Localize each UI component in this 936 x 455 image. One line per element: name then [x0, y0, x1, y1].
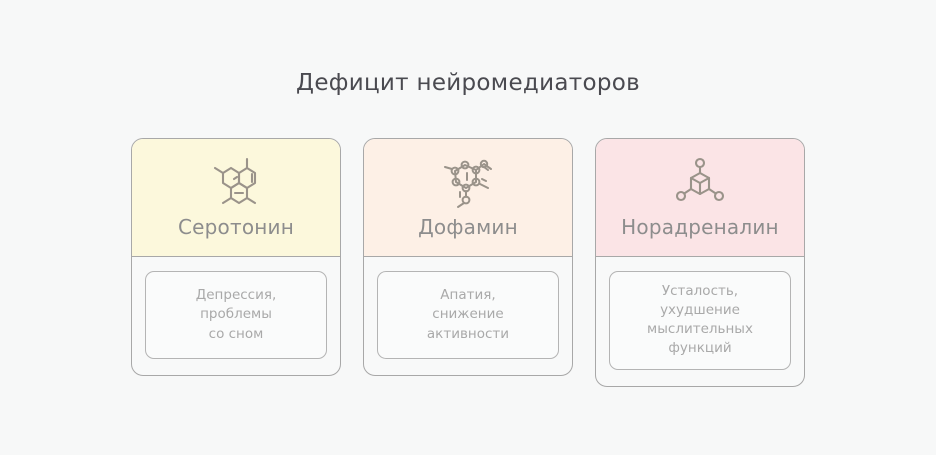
noradrenaline-molecule-icon [669, 153, 731, 215]
page-title: Дефицит нейромедиаторов [0, 70, 936, 96]
card-title-noradrenaline: Норадреналин [621, 217, 779, 237]
description-box-noradrenaline: Усталость, ухудшение мыслительных функци… [609, 271, 791, 370]
description-box-dopamine: Апатия, снижение активности [377, 271, 559, 359]
card-dopamine[interactable]: Дофамин Апатия, снижение активности [363, 138, 573, 376]
description-text-dopamine: Апатия, снижение активности [427, 286, 509, 343]
card-title-dopamine: Дофамин [418, 217, 518, 237]
card-header-noradrenaline: Норадреналин [596, 139, 804, 257]
card-serotonin[interactable]: Серотонин Депрессия, проблемы со сном [131, 138, 341, 376]
card-body-serotonin: Депрессия, проблемы со сном [132, 257, 340, 375]
infographic-page: Дефицит нейромедиаторов [0, 0, 936, 455]
description-box-serotonin: Депрессия, проблемы со сном [145, 271, 327, 359]
description-text-noradrenaline: Усталость, ухудшение мыслительных функци… [647, 282, 753, 359]
card-title-serotonin: Серотонин [178, 217, 294, 237]
serotonin-molecule-icon [203, 153, 269, 215]
dopamine-molecule-icon [436, 153, 500, 215]
card-body-noradrenaline: Усталость, ухудшение мыслительных функци… [596, 257, 804, 386]
card-header-dopamine: Дофамин [364, 139, 572, 257]
neurotransmitter-cards-row: Серотонин Депрессия, проблемы со сном [0, 138, 936, 387]
description-text-serotonin: Депрессия, проблемы со сном [196, 286, 277, 343]
card-header-serotonin: Серотонин [132, 139, 340, 257]
card-body-dopamine: Апатия, снижение активности [364, 257, 572, 375]
card-noradrenaline[interactable]: Норадреналин Усталость, ухудшение мыслит… [595, 138, 805, 387]
